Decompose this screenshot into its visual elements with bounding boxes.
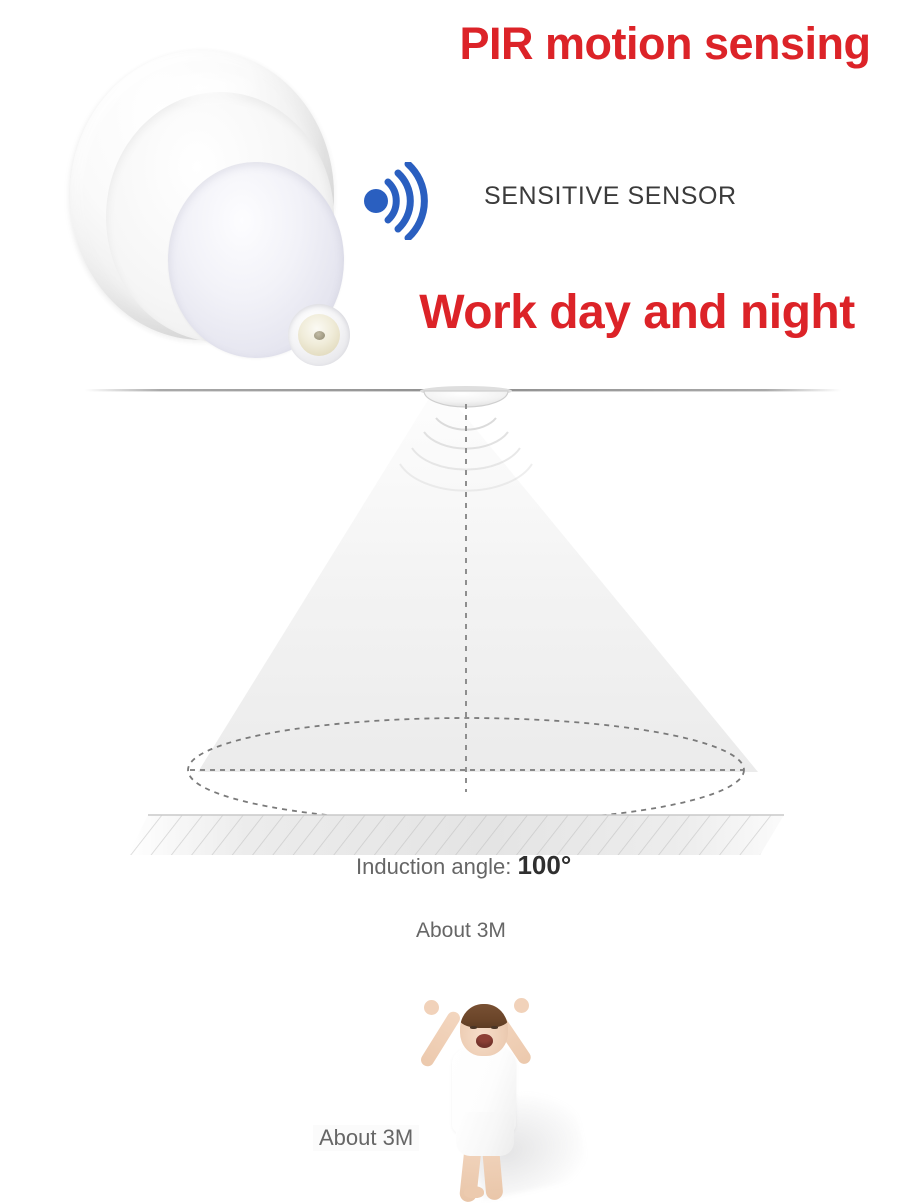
child-foot [464, 1186, 484, 1198]
signal-waves-icon [362, 162, 428, 240]
product-highlight [144, 68, 262, 108]
induction-angle-prefix: Induction angle: [356, 854, 517, 879]
child-head [460, 1004, 508, 1056]
induction-angle-label: Induction angle: 100° [356, 850, 571, 881]
hatched-floor [128, 815, 784, 855]
product-lens [168, 162, 344, 358]
sensitive-sensor-label: SENSITIVE SENSOR [484, 182, 737, 211]
detection-cone [198, 400, 758, 772]
pir-sensor-pupil [314, 331, 325, 340]
child-eye-left [470, 1026, 477, 1029]
child-hand-left [424, 1000, 439, 1015]
induction-coverage-diagram: Induction angle: 100° About 3M About 3M [0, 372, 911, 911]
child-hair [460, 1004, 508, 1028]
top-section: PIR motion sensing SENSITIVE SENSOR Work… [0, 0, 911, 380]
product-housing [70, 50, 334, 340]
sensitive-sensor-feature: SENSITIVE SENSOR [362, 162, 782, 242]
pir-sensor-inner [298, 314, 340, 356]
product-photo [52, 28, 352, 358]
child-figure [410, 984, 560, 1199]
mounting-height-label: About 3M [416, 919, 506, 943]
product-rim [106, 92, 334, 342]
page-title-work: Work day and night [372, 285, 902, 340]
diagram-canvas [0, 372, 911, 911]
child-eye-right [491, 1026, 498, 1029]
pir-sensor-icon [288, 304, 350, 366]
child-hand-right [514, 998, 529, 1013]
page-title-pir: PIR motion sensing [430, 18, 900, 70]
coverage-diameter-label: About 3M [313, 1125, 419, 1151]
induction-angle-value: 100° [517, 850, 571, 880]
child-mouth [476, 1034, 493, 1048]
child-shorts [456, 1112, 514, 1156]
